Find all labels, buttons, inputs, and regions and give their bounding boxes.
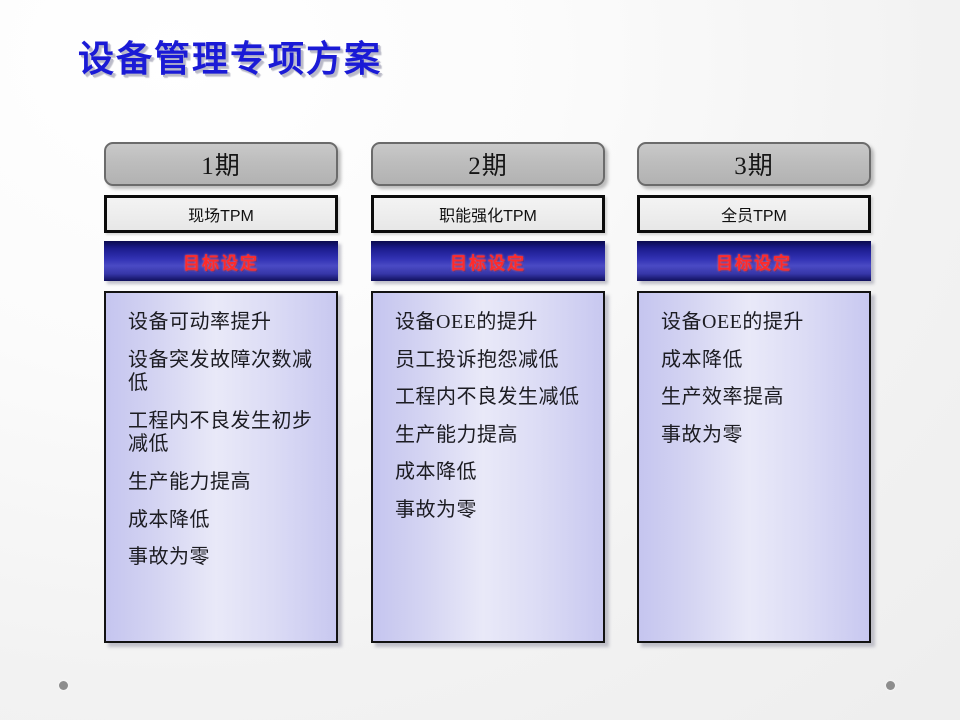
- list-item: 生产效率提高: [661, 386, 855, 410]
- decor-dot-left-icon: [59, 681, 68, 690]
- goal-banner-2[interactable]: 目标设定: [371, 241, 605, 281]
- goal-list-3: 设备OEE的提升 成本降低 生产效率提高 事故为零: [637, 291, 871, 643]
- tpm-box-1[interactable]: 现场TPM: [104, 195, 338, 233]
- list-item: 生产能力提高: [395, 424, 589, 448]
- phase-column-3: 3期 全员TPM 目标设定 设备OEE的提升 成本降低 生产效率提高 事故为零: [637, 142, 871, 643]
- goal-label-1: 目标设定: [183, 249, 259, 274]
- goal-banner-1[interactable]: 目标设定: [104, 241, 338, 281]
- phase-column-2: 2期 职能强化TPM 目标设定 设备OEE的提升 员工投诉抱怨减低 工程内不良发…: [371, 142, 605, 643]
- list-item: 成本降低: [128, 509, 322, 533]
- list-item: 事故为零: [661, 424, 855, 448]
- list-item: 设备可动率提升: [128, 311, 322, 335]
- list-item: 设备OEE的提升: [395, 311, 589, 335]
- phase-columns: 1期 现场TPM 目标设定 设备可动率提升 设备突发故障次数减低 工程内不良发生…: [0, 0, 960, 720]
- tpm-label-2: 职能强化TPM: [439, 202, 537, 226]
- list-item: 事故为零: [128, 546, 322, 570]
- phase-column-1: 1期 现场TPM 目标设定 设备可动率提升 设备突发故障次数减低 工程内不良发生…: [104, 142, 338, 643]
- tpm-box-2[interactable]: 职能强化TPM: [371, 195, 605, 233]
- list-item: 成本降低: [661, 349, 855, 373]
- list-item: 事故为零: [395, 499, 589, 523]
- phase-label-1: 1期: [201, 146, 241, 182]
- goal-list-1: 设备可动率提升 设备突发故障次数减低 工程内不良发生初步减低 生产能力提高 成本…: [104, 291, 338, 643]
- list-item: 工程内不良发生初步减低: [128, 410, 322, 457]
- tpm-box-3[interactable]: 全员TPM: [637, 195, 871, 233]
- list-item: 员工投诉抱怨减低: [395, 349, 589, 373]
- phase-header-3[interactable]: 3期: [637, 142, 871, 186]
- slide-canvas: 设备管理专项方案 1期 现场TPM 目标设定 设备可动率提升 设备突发故障次数减…: [0, 0, 960, 720]
- list-item: 生产能力提高: [128, 471, 322, 495]
- goal-label-3: 目标设定: [716, 249, 792, 274]
- phase-header-2[interactable]: 2期: [371, 142, 605, 186]
- tpm-label-3: 全员TPM: [721, 202, 787, 226]
- phase-label-2: 2期: [468, 146, 508, 182]
- phase-header-1[interactable]: 1期: [104, 142, 338, 186]
- decor-dot-right-icon: [886, 681, 895, 690]
- list-item: 设备突发故障次数减低: [128, 349, 322, 396]
- list-item: 工程内不良发生减低: [395, 386, 589, 410]
- goal-banner-3[interactable]: 目标设定: [637, 241, 871, 281]
- goal-label-2: 目标设定: [450, 249, 526, 274]
- goal-list-2: 设备OEE的提升 员工投诉抱怨减低 工程内不良发生减低 生产能力提高 成本降低 …: [371, 291, 605, 643]
- phase-label-3: 3期: [734, 146, 774, 182]
- list-item: 设备OEE的提升: [661, 311, 855, 335]
- tpm-label-1: 现场TPM: [188, 202, 254, 226]
- list-item: 成本降低: [395, 461, 589, 485]
